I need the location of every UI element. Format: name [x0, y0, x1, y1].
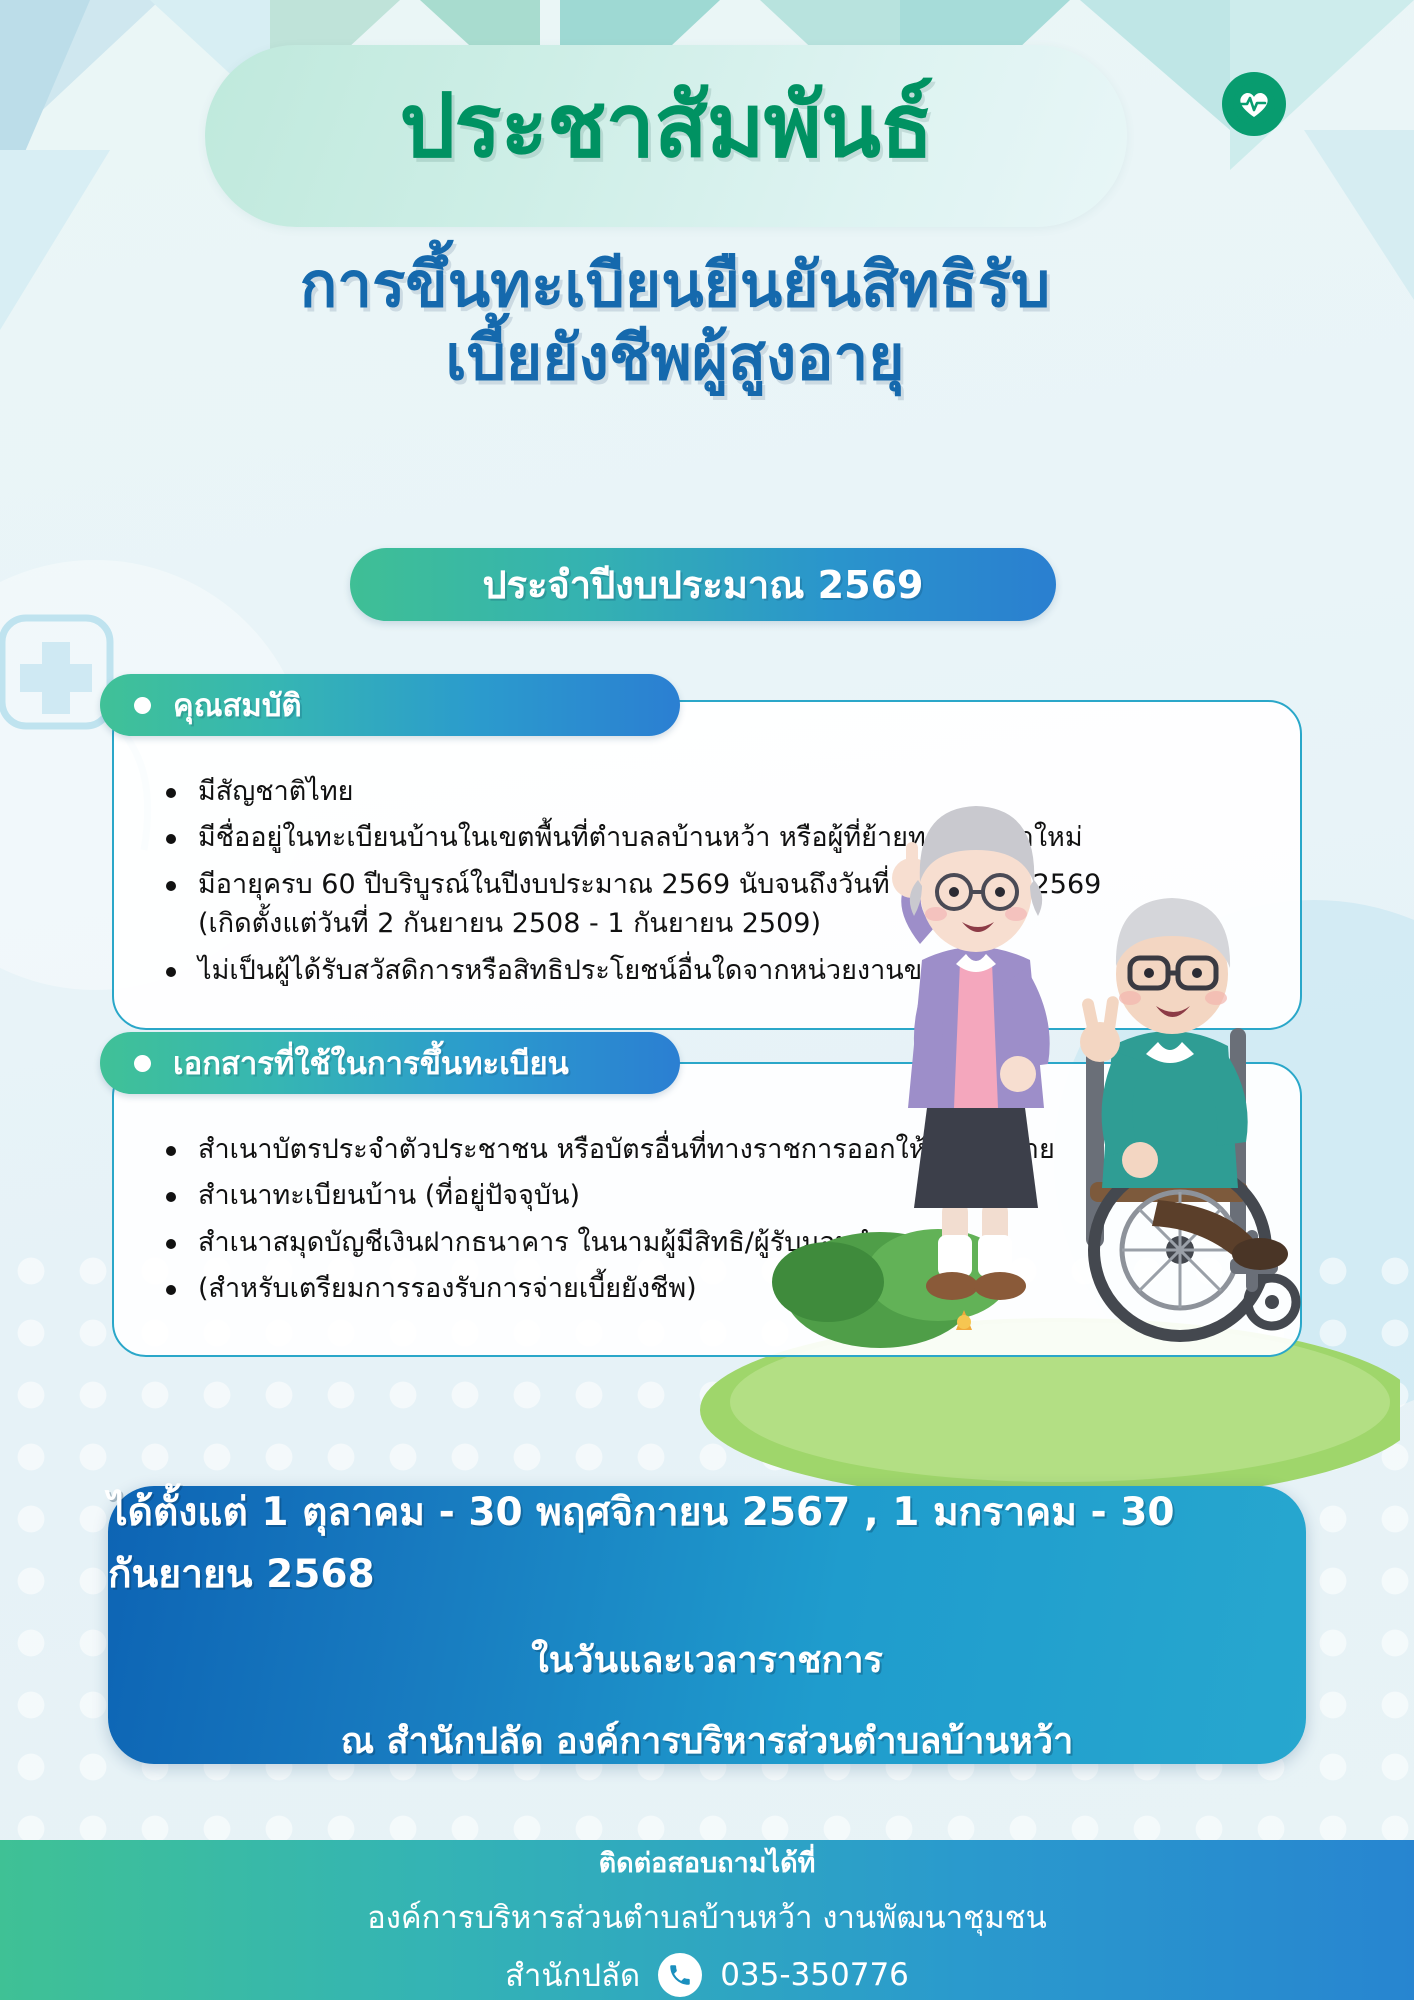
contact-phone-row: สำนักปลัด 035-350776: [505, 1950, 909, 2000]
contact-phone-number: 035-350776: [720, 1957, 909, 1993]
bg-triangle: [1304, 130, 1414, 300]
poster-canvas: ประชาสัมพันธ์ การขึ้นทะเบียนยืนยันสิทธิร…: [0, 0, 1414, 2000]
elderly-woman-figure: [892, 806, 1050, 1300]
bullet-dot-icon: [134, 697, 151, 714]
section-header-qualifications: คุณสมบัติ: [100, 674, 680, 736]
period-line-1: ได้ตั้งแต่ 1 ตุลาคม - 30 พฤศจิกายน 2567 …: [108, 1481, 1306, 1605]
period-line-3: ณ สำนักปลัด องค์การบริหารส่วนตำบลบ้านหว้…: [341, 1712, 1074, 1769]
main-title: การขึ้นทะเบียนยืนยันสิทธิรับ เบี้ยยังชีพ…: [150, 248, 1200, 394]
contact-office-label: สำนักปลัด: [505, 1950, 640, 2000]
fiscal-year-badge: ประจำปีงบประมาณ 2569: [350, 548, 1056, 621]
elderly-man-figure: [1080, 898, 1296, 1336]
period-line-2: ในวันและเวลาราชการ: [531, 1631, 883, 1688]
bullet-dot-icon: [134, 1055, 151, 1072]
page-title: ประชาสัมพันธ์: [205, 72, 1127, 179]
contact-organization: องค์การบริหารส่วนตำบลบ้านหว้า งานพัฒนาชุ…: [367, 1892, 1047, 1942]
section-header-documents: เอกสารที่ใช้ในการขึ้นทะเบียน: [100, 1032, 680, 1094]
phone-icon: [658, 1953, 702, 1997]
contact-heading: ติดต่อสอบถามได้ที่: [599, 1841, 816, 1884]
fiscal-year-label: ประจำปีงบประมาณ 2569: [483, 554, 924, 615]
list-item-text: สำเนาทะเบียนบ้าน (ที่อยู่ปัจจุบัน): [198, 1180, 580, 1211]
registration-period-banner: ได้ตั้งแต่ 1 ตุลาคม - 30 พฤศจิกายน 2567 …: [108, 1486, 1306, 1764]
main-title-line-2: เบี้ยยังชีพผู้สูงอายุ: [150, 321, 1200, 394]
contact-footer: ติดต่อสอบถามได้ที่ องค์การบริหารส่วนตำบล…: [0, 1840, 1414, 2000]
heart-pulse-icon: [1222, 72, 1286, 136]
section-heading-label: คุณสมบัติ: [173, 680, 302, 730]
section-heading-label: เอกสารที่ใช้ในการขึ้นทะเบียน: [173, 1038, 569, 1088]
bg-triangle: [0, 150, 110, 330]
list-item-text: มีสัญชาติไทย: [198, 776, 354, 807]
list-item-text: (สำหรับเตรียมการรองรับการจ่ายเบี้ยยังชีพ…: [198, 1273, 697, 1304]
main-title-line-1: การขึ้นทะเบียนยืนยันสิทธิรับ: [150, 248, 1200, 321]
elderly-couple-illustration: [760, 730, 1400, 1410]
